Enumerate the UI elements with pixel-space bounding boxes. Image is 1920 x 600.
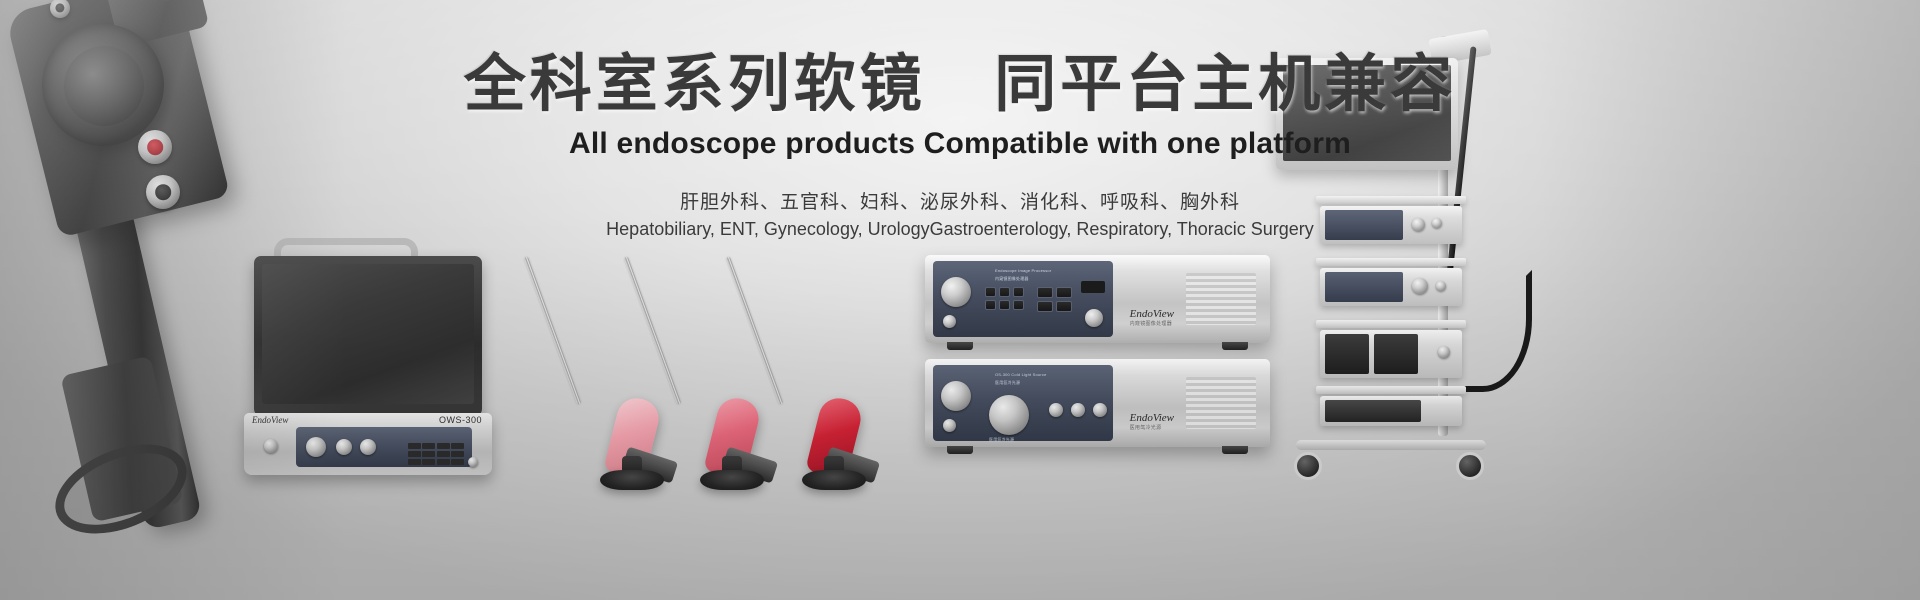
light-source-port-knob [941,381,971,411]
console-base-unit: EndoView OWS-300 [244,413,492,475]
processor-function-key [1056,287,1072,298]
cart-shelf-4 [1316,386,1466,394]
processor-foot [1222,342,1248,350]
processor-function-key [1037,287,1053,298]
console-brand-label: EndoView [252,415,288,425]
processor-function-key [1037,301,1053,312]
console-key [451,443,464,449]
processor-function-key [1056,301,1072,312]
cart-device-3 [1320,330,1462,378]
console-key [408,451,421,457]
console-key [422,451,435,457]
processor-key [999,287,1010,297]
cart-device-5-panel [1325,400,1421,422]
console-knob-2 [336,439,352,455]
processor-key [1013,287,1024,297]
light-source-vent [1186,377,1256,429]
cart-device-3-knob [1438,346,1450,358]
processor-small-knob [943,315,956,328]
cart-device-3-screen [1325,334,1369,374]
console-key [422,459,435,465]
instrument-shaft [524,257,581,405]
banner-subheadline: All endoscope products Compatible with o… [0,127,1920,161]
console-display-bezel [254,256,482,416]
cart-base-frame [1296,440,1486,450]
banner-headline: 全科室系列软镜 同平台主机兼容 [0,50,1920,119]
specialties-english: Hepatobiliary, ENT, Gynecology, UrologyG… [0,219,1920,240]
laparoscopic-instrument-red [722,258,852,490]
processor-usb-port [1081,281,1105,293]
product-banner: EndoView OWS-300 [0,0,1920,600]
processor-front-panel: Endoscope Image Processor 内窥镜图像处理器 [933,261,1113,337]
processor-main-knob [941,277,971,307]
cart-device-5 [1320,396,1462,426]
console-port-left [264,439,278,453]
processor-brand-block: EndoView 内窥镜图像处理器 [1130,308,1174,327]
monitor-console-ows-300: EndoView OWS-300 [228,250,498,485]
processor-foot [947,342,973,350]
processor-label-cn: 内窥镜图像处理器 [995,276,1029,281]
console-key [437,459,450,465]
console-key [422,443,435,449]
light-source-button-1 [1049,403,1063,417]
stacked-processor-units: Endoscope Image Processor 内窥镜图像处理器 [925,255,1275,455]
console-key [437,451,450,457]
processor-function-buttons [1037,287,1072,312]
cart-shelf-2 [1316,258,1466,266]
instrument-shaft [624,257,681,405]
light-source-brightness-dial [989,395,1029,435]
console-key [451,451,464,457]
console-key [408,443,421,449]
cart-device-2-dial [1412,278,1428,294]
image-processor-unit: Endoscope Image Processor 内窥镜图像处理器 [925,255,1270,343]
headline-part-1: 全科室系列软镜 [464,50,926,119]
light-source-foot [947,446,973,454]
cart-wheel-left [1294,452,1322,480]
specialties-chinese: 肝胆外科、五官科、妇科、泌尿外科、消化科、呼吸科、胸外科 [0,187,1920,214]
processor-key [985,300,996,310]
processor-keypad [985,287,1024,310]
processor-brand-sub: 内窥镜图像处理器 [1130,320,1174,327]
cart-device-2-button [1436,281,1446,291]
cart-device-2-panel [1325,272,1403,302]
light-source-button-3 [1093,403,1107,417]
light-source-label-cn: 医用氙冷光源 [995,380,1020,385]
light-source-dial-caption: 医用氙冷光源 [989,437,1014,442]
light-source-front-panel: OS-300 Cold Light Source 医用氙冷光源 医用氙冷光源 [933,365,1113,441]
console-display-screen [262,264,474,404]
console-control-panel [296,427,472,467]
instrument-shaft [726,257,783,405]
light-source-button-2 [1071,403,1085,417]
light-source-foot [1222,446,1248,454]
processor-key [999,300,1010,310]
console-key [408,459,421,465]
light-source-brand-sub: 医用氙冷光源 [1130,424,1174,431]
cart-shelf-3 [1316,320,1466,328]
processor-brand-label: EndoView [1130,308,1174,320]
processor-vent [1186,273,1256,325]
cart-device-4-screen [1374,334,1418,374]
cart-scope-cable-loop [1450,270,1532,392]
light-source-unit: OS-300 Cold Light Source 医用氙冷光源 医用氙冷光源 E… [925,359,1270,447]
console-model-label: OWS-300 [439,415,482,425]
cart-wheel-right [1456,452,1484,480]
headline-part-2: 同平台主机兼容 [994,50,1456,119]
light-source-label-en: OS-300 Cold Light Source [995,372,1047,377]
processor-label-en: Endoscope Image Processor [995,268,1051,273]
processor-key [985,287,996,297]
cart-device-2 [1320,268,1462,306]
processor-power-button [1085,309,1103,327]
light-source-brand-label: EndoView [1130,412,1174,424]
instrument-stand [802,470,866,490]
light-source-brand-block: EndoView 医用氙冷光源 [1130,412,1174,431]
console-knob-3 [360,439,376,455]
console-key [437,443,450,449]
console-port-right [468,457,478,467]
light-source-small-knob [943,419,956,432]
console-keypad [408,443,464,465]
console-knob-1 [306,437,326,457]
console-key [451,459,464,465]
processor-key [1013,300,1024,310]
banner-text-block: 全科室系列软镜 同平台主机兼容 All endoscope products C… [0,50,1920,240]
